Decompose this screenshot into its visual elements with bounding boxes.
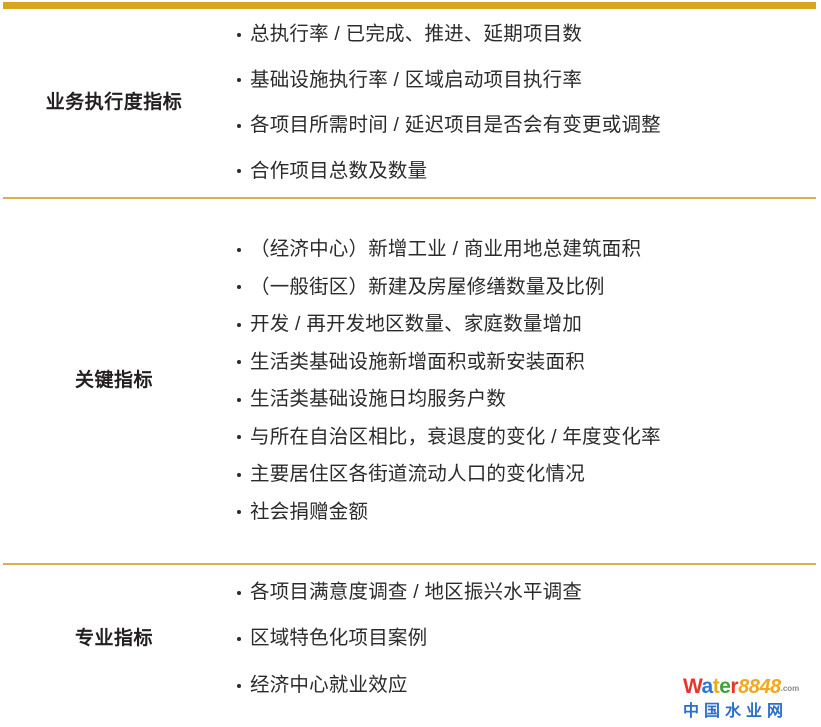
list-item: 总执行率 / 已完成、推进、延期项目数 <box>236 25 811 45</box>
list-item: 区域特色化项目案例 <box>236 629 811 649</box>
list-item-text: 与所在自治区相比，衰退度的变化 / 年度变化率 <box>250 426 661 448</box>
bullet-dot-icon <box>237 684 241 688</box>
list-item-text: 主要居住区各街道流动人口的变化情况 <box>250 463 585 485</box>
section-business-execution: 业务执行度指标 总执行率 / 已完成、推进、延期项目数 基础设施执行率 / 区域… <box>0 9 821 197</box>
bullet-dot-icon <box>237 323 241 327</box>
list-item-text: 基础设施执行率 / 区域启动项目执行率 <box>250 69 582 91</box>
list-item-text: 区域特色化项目案例 <box>250 627 427 649</box>
list-item: （一般街区）新建及房屋修缮数量及比例 <box>236 278 811 298</box>
bullet-dot-icon <box>237 510 241 514</box>
list-item-text: 总执行率 / 已完成、推进、延期项目数 <box>250 23 582 45</box>
watermark-domain-suffix: .com <box>781 684 800 693</box>
bullet-dot-icon <box>237 591 241 595</box>
list-item-text: 合作项目总数及数量 <box>250 160 427 182</box>
indicator-table: 业务执行度指标 总执行率 / 已完成、推进、延期项目数 基础设施执行率 / 区域… <box>0 0 821 727</box>
bullet-dot-icon <box>237 360 241 364</box>
list-item-text: 开发 / 再开发地区数量、家庭数量增加 <box>250 313 582 335</box>
bullet-dot-icon <box>237 33 241 37</box>
watermark-chinese-name: 中国水业网 <box>683 702 815 722</box>
list-item-text: 社会捐赠金额 <box>250 501 368 523</box>
list-item-text: （经济中心）新增工业 / 商业用地总建筑面积 <box>250 238 641 260</box>
bullet-dot-icon <box>237 435 241 439</box>
list-item-text: 经济中心就业效应 <box>250 674 408 696</box>
top-gold-rule <box>3 2 816 9</box>
bullet-dot-icon <box>237 637 241 641</box>
list-item: 生活类基础设施新增面积或新安装面积 <box>236 353 811 373</box>
list-item: 各项目所需时间 / 延迟项目是否会有变更或调整 <box>236 116 811 136</box>
bullet-dot-icon <box>237 78 241 82</box>
list-item: 社会捐赠金额 <box>236 503 811 523</box>
category-label-0: 业务执行度指标 <box>0 92 228 115</box>
list-item: （经济中心）新增工业 / 商业用地总建筑面积 <box>236 240 811 260</box>
category-label-2: 专业指标 <box>0 628 228 651</box>
watermark-letter-e: e <box>719 675 730 698</box>
list-item-text: 各项目所需时间 / 延迟项目是否会有变更或调整 <box>250 114 661 136</box>
list-item: 开发 / 再开发地区数量、家庭数量增加 <box>236 315 811 335</box>
bullet-list-0: 总执行率 / 已完成、推进、延期项目数 基础设施执行率 / 区域启动项目执行率 … <box>228 25 821 181</box>
list-item-text: 各项目满意度调查 / 地区振兴水平调查 <box>250 581 582 603</box>
bullet-dot-icon <box>237 473 241 477</box>
list-item: 主要居住区各街道流动人口的变化情况 <box>236 465 811 485</box>
section-key-indicators: 关键指标 （经济中心）新增工业 / 商业用地总建筑面积 （一般街区）新建及房屋修… <box>0 199 821 563</box>
watermark-letter-a: a <box>702 675 713 698</box>
bullet-list-1: （经济中心）新增工业 / 商业用地总建筑面积 （一般街区）新建及房屋修缮数量及比… <box>228 240 821 522</box>
watermark-letter-r: r <box>730 675 738 698</box>
watermark-wordmark: Water8848.com <box>683 676 815 700</box>
category-label-1: 关键指标 <box>0 370 228 393</box>
bullet-dot-icon <box>237 124 241 128</box>
bullet-dot-icon <box>237 169 241 173</box>
list-item: 与所在自治区相比，衰退度的变化 / 年度变化率 <box>236 428 811 448</box>
site-watermark-logo: Water8848.com 中国水业网 <box>683 676 815 724</box>
watermark-letter-w: W <box>683 675 702 698</box>
list-item-text: 生活类基础设施日均服务户数 <box>250 388 506 410</box>
bullet-dot-icon <box>237 398 241 402</box>
bullet-dot-icon <box>237 248 241 252</box>
list-item: 生活类基础设施日均服务户数 <box>236 390 811 410</box>
list-item: 合作项目总数及数量 <box>236 162 811 182</box>
list-item: 基础设施执行率 / 区域启动项目执行率 <box>236 71 811 91</box>
list-item: 各项目满意度调查 / 地区振兴水平调查 <box>236 583 811 603</box>
bullet-dot-icon <box>237 285 241 289</box>
watermark-number: 8848 <box>738 676 781 698</box>
list-item-text: 生活类基础设施新增面积或新安装面积 <box>250 351 585 373</box>
list-item-text: （一般街区）新建及房屋修缮数量及比例 <box>250 276 605 298</box>
